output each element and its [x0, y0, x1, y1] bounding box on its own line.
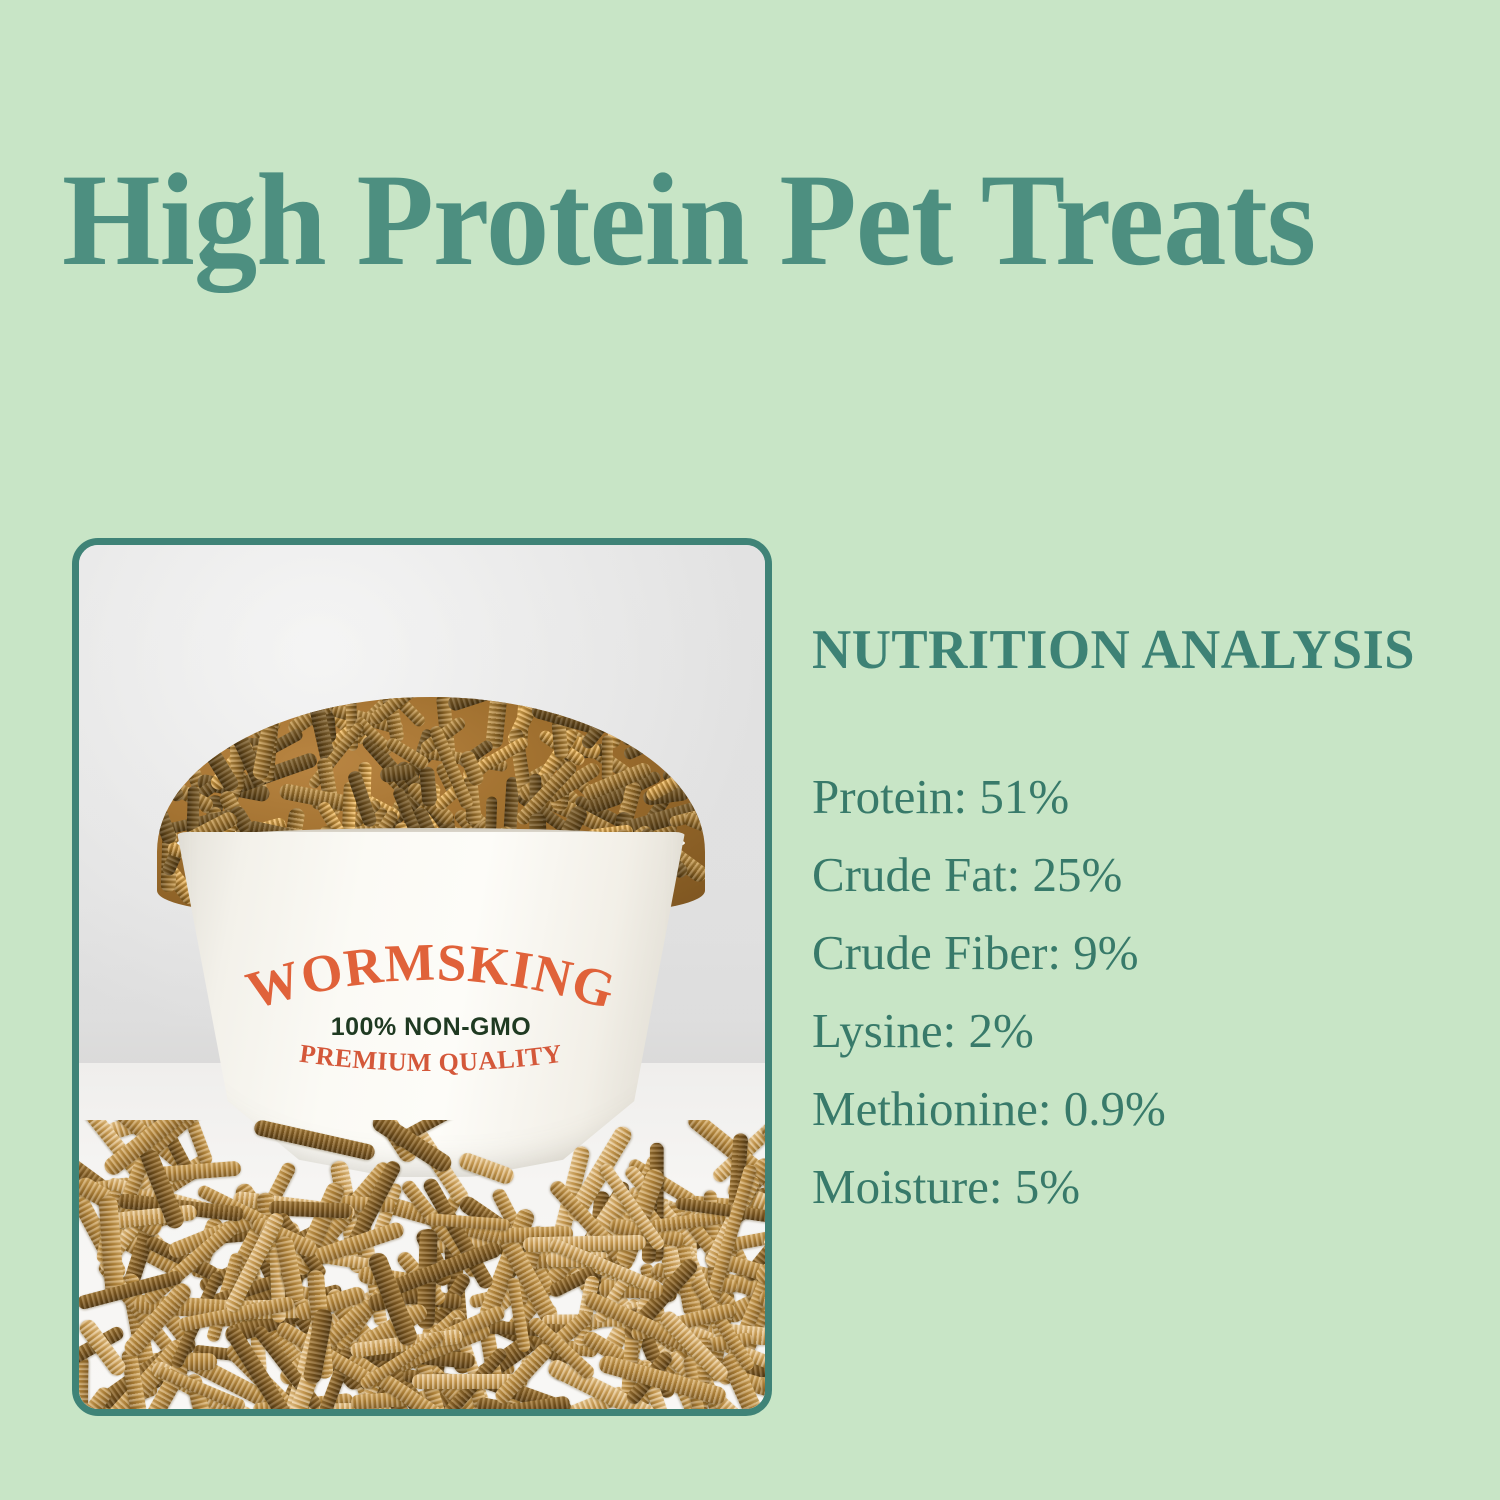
nutrition-item: Moisture: 5% — [812, 1148, 1472, 1226]
nutrition-list: Protein: 51% Crude Fat: 25% Crude Fiber:… — [812, 758, 1472, 1226]
product-photo-card: WORMSKING 100% NON-GMO PREMIUM QUALITY — [72, 538, 772, 1416]
nutrition-heading: NUTRITION ANALYSIS — [812, 620, 1452, 680]
nutrition-item: Crude Fiber: 9% — [812, 914, 1472, 992]
product-photo: WORMSKING 100% NON-GMO PREMIUM QUALITY — [79, 545, 765, 1409]
nutrition-item: Methionine: 0.9% — [812, 1070, 1472, 1148]
scattered-mealworms — [79, 1120, 765, 1409]
page-title: High Protein Pet Treats — [62, 150, 1406, 290]
nutrition-item: Protein: 51% — [812, 758, 1472, 836]
nutrition-panel: NUTRITION ANALYSIS Protein: 51% Crude Fa… — [812, 620, 1472, 1226]
product-infographic: High Protein Pet Treats WOR — [0, 0, 1500, 1500]
nutrition-item: Crude Fat: 25% — [812, 836, 1472, 914]
nutrition-item: Lysine: 2% — [812, 992, 1472, 1070]
